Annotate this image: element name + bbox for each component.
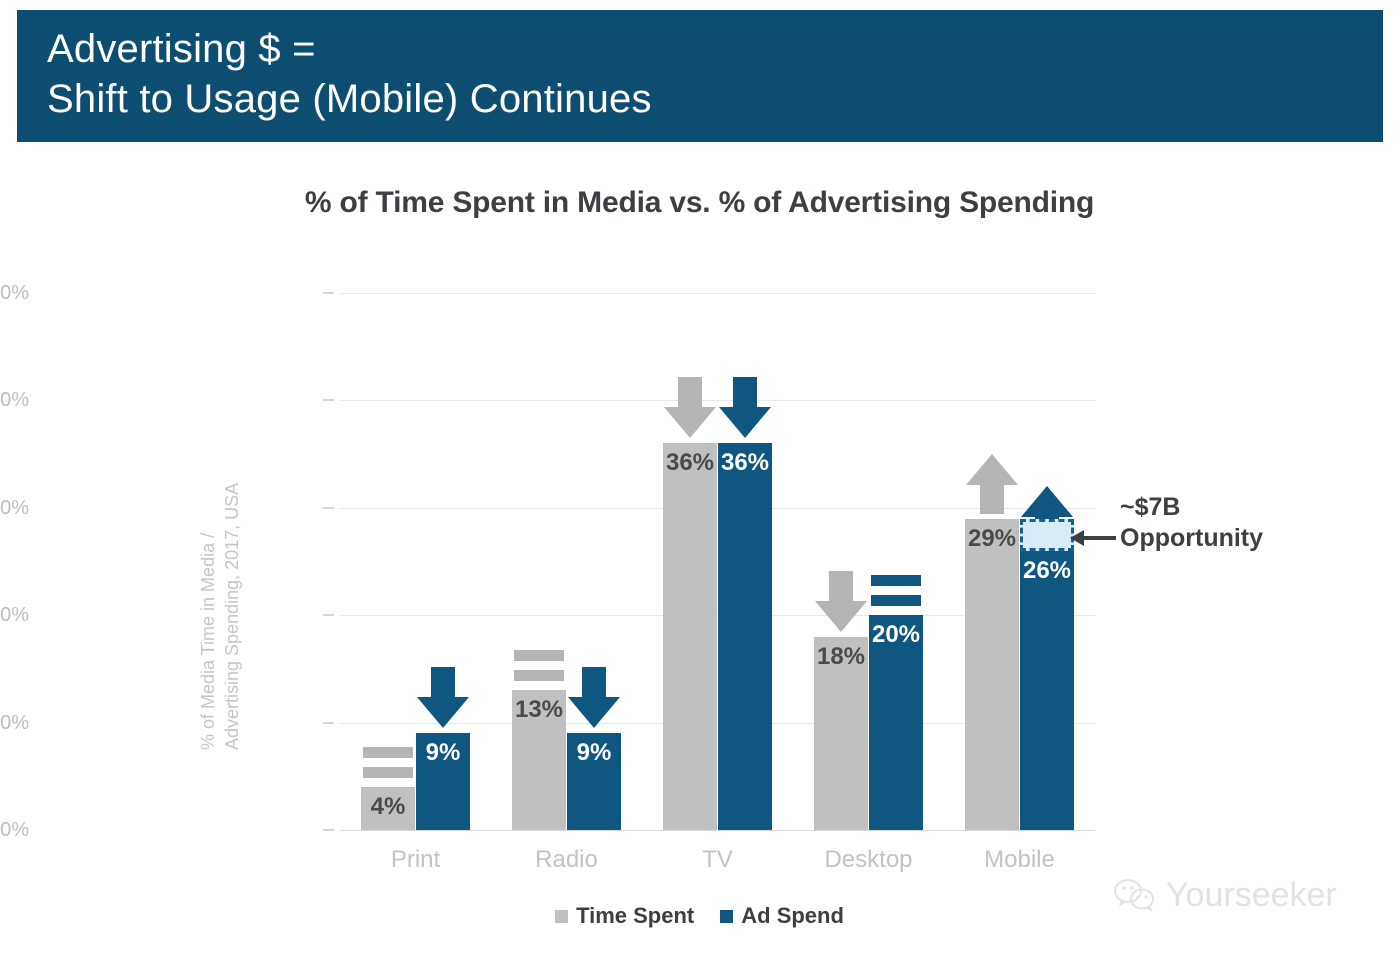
chart-plot-wrapper: % of Media Time in Media / Advertising S… bbox=[0, 0, 1399, 960]
indicator-down-icon bbox=[663, 377, 717, 439]
indicator-up-icon bbox=[965, 453, 1019, 515]
bar-desktop-time-spent[interactable]: 18% bbox=[814, 637, 868, 830]
legend-swatch-time-spent bbox=[555, 910, 568, 923]
x-axis-label-desktop: Desktop bbox=[793, 846, 944, 874]
bar-radio-time-spent[interactable]: 13% bbox=[512, 690, 566, 830]
bar-value-label: 29% bbox=[965, 525, 1019, 553]
legend-label-time-spent: Time Spent bbox=[576, 903, 694, 929]
bar-mobile-time-spent[interactable]: 29% bbox=[965, 519, 1019, 830]
bar-print-time-spent[interactable]: 4% bbox=[361, 787, 415, 830]
y-axis-title-line-1: % of Media Time in Media / bbox=[196, 330, 220, 750]
bar-value-label: 18% bbox=[814, 643, 868, 671]
plot-area: 50%40%30%20%10%0%4%Print13%Radio36%TV18%… bbox=[340, 293, 1095, 830]
gridline-50 bbox=[340, 293, 1095, 294]
bar-value-label: 26% bbox=[1020, 557, 1074, 585]
wechat-icon bbox=[1113, 878, 1157, 914]
legend-swatch-ad-spend bbox=[720, 910, 733, 923]
x-axis-label-radio: Radio bbox=[491, 846, 642, 874]
bar-value-label: 4% bbox=[361, 793, 415, 821]
bar-value-label: 20% bbox=[869, 621, 923, 649]
y-axis-tick-mark bbox=[323, 829, 334, 831]
indicator-equals-icon bbox=[869, 573, 923, 611]
y-axis-tick-20%: 20% bbox=[0, 604, 29, 627]
bar-tv-ad-spend[interactable]: 36% bbox=[718, 443, 772, 830]
x-axis-label-tv: TV bbox=[642, 846, 793, 874]
indicator-equals-icon bbox=[361, 745, 415, 783]
y-axis-tick-mark bbox=[323, 292, 334, 294]
y-axis-tick-mark bbox=[323, 614, 334, 616]
legend-label-ad-spend: Ad Spend bbox=[741, 903, 844, 929]
bar-value-label: 13% bbox=[512, 696, 566, 724]
bar-radio-ad-spend[interactable]: 9% bbox=[567, 733, 621, 830]
opportunity-label: Opportunity bbox=[1120, 523, 1370, 554]
watermark-text: Yourseeker bbox=[1166, 876, 1337, 915]
y-axis-tick-50%: 50% bbox=[0, 282, 29, 305]
bar-value-label: 36% bbox=[718, 449, 772, 477]
bar-value-label: 9% bbox=[416, 739, 470, 767]
legend-item-ad-spend[interactable]: Ad Spend bbox=[720, 903, 844, 929]
opportunity-box bbox=[1020, 519, 1074, 551]
legend-item-time-spent[interactable]: Time Spent bbox=[555, 903, 694, 929]
y-axis-tick-30%: 30% bbox=[0, 497, 29, 520]
opportunity-arrow-icon bbox=[1070, 527, 1116, 554]
bar-print-ad-spend[interactable]: 9% bbox=[416, 733, 470, 830]
indicator-down-icon bbox=[567, 667, 621, 729]
bar-value-label: 9% bbox=[567, 739, 621, 767]
watermark: Yourseeker bbox=[1113, 876, 1337, 915]
bar-mobile-ad-spend[interactable]: 26% bbox=[1020, 551, 1074, 830]
bar-desktop-ad-spend[interactable]: 20% bbox=[869, 615, 923, 830]
indicator-equals-icon bbox=[512, 648, 566, 686]
opportunity-annotation: ~$7B Opportunity bbox=[1120, 492, 1370, 554]
y-axis-tick-10%: 10% bbox=[0, 712, 29, 735]
y-axis-tick-mark bbox=[323, 722, 334, 724]
x-axis-label-mobile: Mobile bbox=[944, 846, 1095, 874]
indicator-down-icon bbox=[814, 571, 868, 633]
y-axis-tick-mark bbox=[323, 399, 334, 401]
indicator-down-icon bbox=[416, 667, 470, 729]
y-axis-tick-40%: 40% bbox=[0, 389, 29, 412]
bar-value-label: 36% bbox=[663, 449, 717, 477]
y-axis-tick-0%: 0% bbox=[0, 819, 29, 842]
bar-tv-time-spent[interactable]: 36% bbox=[663, 443, 717, 830]
y-axis-tick-mark bbox=[323, 507, 334, 509]
indicator-down-icon bbox=[718, 377, 772, 439]
y-axis-title-line-2: Advertising Spending, 2017, USA bbox=[220, 330, 244, 750]
x-axis-label-print: Print bbox=[340, 846, 491, 874]
gridline-0 bbox=[340, 830, 1095, 831]
opportunity-amount: ~$7B bbox=[1120, 492, 1370, 523]
